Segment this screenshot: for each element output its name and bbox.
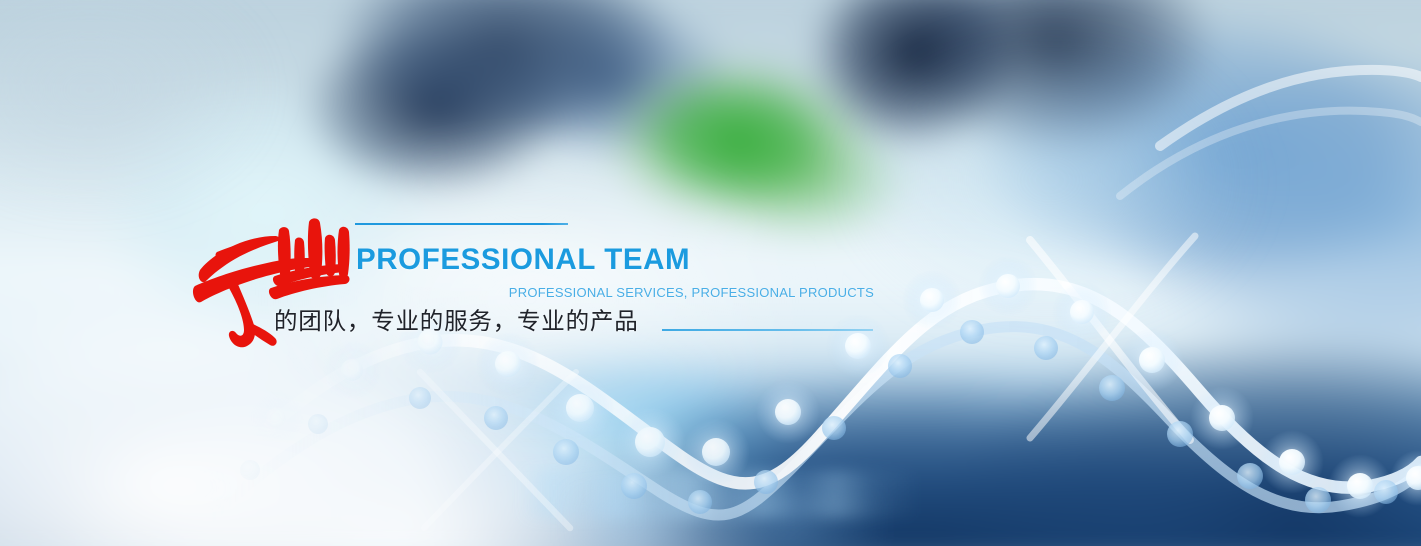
professional-team-banner: PROFESSIONAL TEAM PROFESSIONAL SERVICES,… bbox=[0, 0, 1421, 546]
bottom-accent-rule bbox=[662, 329, 873, 331]
banner-subheadline: PROFESSIONAL SERVICES, PROFESSIONAL PROD… bbox=[474, 286, 874, 299]
banner-headline: PROFESSIONAL TEAM bbox=[356, 245, 690, 275]
banner-chinese-tagline: 的团队，专业的服务，专业的产品 bbox=[274, 307, 639, 336]
top-accent-rule bbox=[355, 223, 568, 225]
